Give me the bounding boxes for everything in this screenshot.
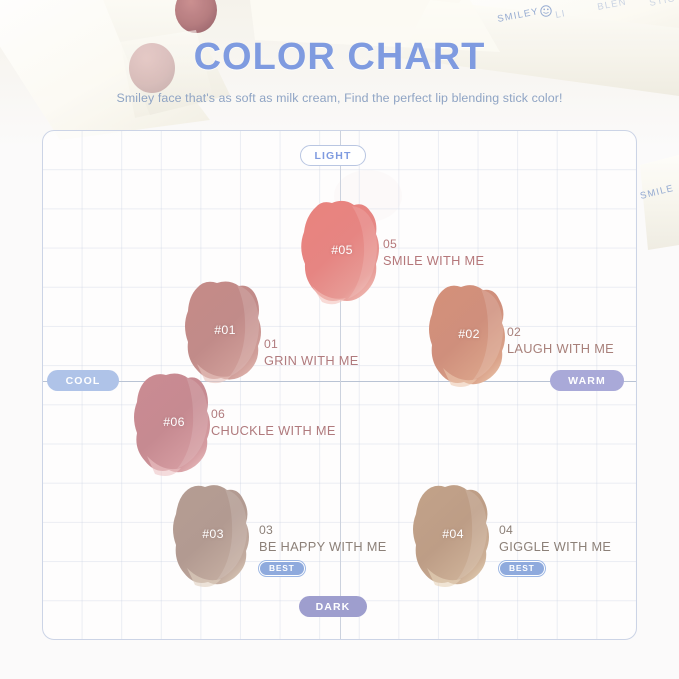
- swatch-group-05[interactable]: #05: [292, 198, 392, 310]
- axis-label-dark: DARK: [299, 596, 367, 617]
- swatch-group-06[interactable]: #06: [124, 370, 224, 482]
- swatch-group-03[interactable]: #03: [163, 482, 263, 594]
- best-badge-04: BEST: [499, 561, 545, 576]
- swatch-label-02: 02 LAUGH WITH ME: [507, 324, 614, 358]
- swatch-number-01: 01: [264, 336, 359, 352]
- swatch-number-04: 04: [499, 522, 611, 538]
- page-title: COLOR CHART: [0, 38, 679, 76]
- axis-label-cool: COOL: [47, 370, 119, 391]
- swatch-label-03: 03 BE HAPPY WITH ME BEST: [259, 522, 387, 577]
- swatch-name-06: CHUCKLE WITH ME: [211, 422, 336, 439]
- swatch-05[interactable]: #05: [292, 198, 392, 310]
- swatch-06[interactable]: #06: [124, 370, 224, 482]
- swatch-number-02: 02: [507, 324, 614, 340]
- swatch-label-05: 05 SMILE WITH ME: [383, 236, 484, 270]
- swatch-name-04: GIGGLE WITH ME: [499, 538, 611, 555]
- swatch-name-01: GRIN WITH ME: [264, 352, 359, 369]
- axis-label-warm: WARM: [550, 370, 624, 391]
- swatch-group-04[interactable]: #04: [403, 482, 503, 594]
- swatch-number-06: 06: [211, 406, 336, 422]
- swatch-04[interactable]: #04: [403, 482, 503, 594]
- best-badge-03: BEST: [259, 561, 305, 576]
- swatch-group-02[interactable]: #02: [419, 282, 519, 394]
- swatch-label-01: 01 GRIN WITH ME: [264, 336, 359, 370]
- header: COLOR CHART Smiley face that's as soft a…: [0, 0, 679, 104]
- swatch-name-05: SMILE WITH ME: [383, 252, 484, 269]
- axis-label-light: LIGHT: [300, 145, 366, 166]
- swatch-number-03: 03: [259, 522, 387, 538]
- swatch-name-03: BE HAPPY WITH ME: [259, 538, 387, 555]
- swatch-name-02: LAUGH WITH ME: [507, 340, 614, 357]
- swatch-03[interactable]: #03: [163, 482, 263, 594]
- swatch-number-05: 05: [383, 236, 484, 252]
- swatch-label-04: 04 GIGGLE WITH ME BEST: [499, 522, 611, 577]
- swatch-label-06: 06 CHUCKLE WITH ME: [211, 406, 336, 440]
- swatch-02[interactable]: #02: [419, 282, 519, 394]
- page-subtitle: Smiley face that's as soft as milk cream…: [0, 92, 679, 104]
